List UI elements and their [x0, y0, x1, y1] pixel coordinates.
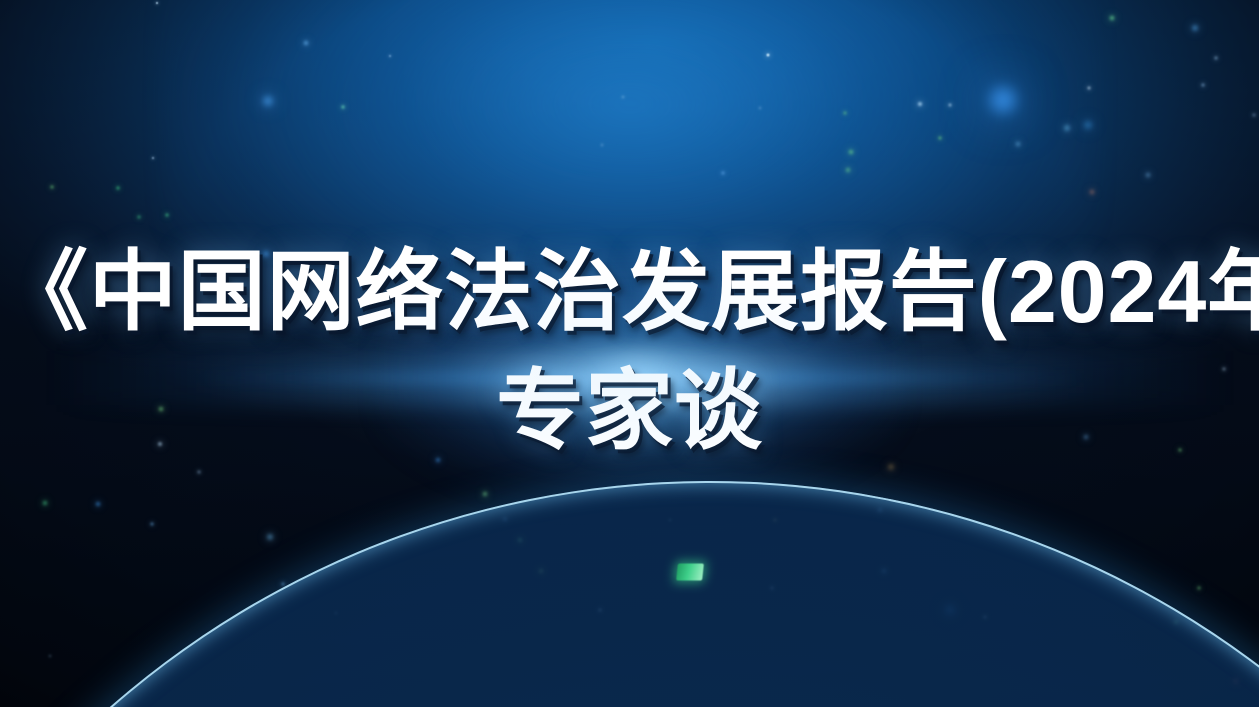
particle-dot [846, 168, 850, 172]
particle-dot [1223, 368, 1226, 371]
particle-dot [1202, 84, 1205, 87]
particle-dot [51, 186, 54, 189]
particle-dot [156, 2, 158, 4]
particle-dot [117, 187, 120, 190]
globe-rim-highlight [0, 447, 1259, 707]
particle-dot [1146, 173, 1150, 177]
particle-dot [1110, 16, 1114, 20]
particle-dot [1084, 435, 1088, 439]
particle-dot [1090, 190, 1094, 194]
particle-dot [849, 150, 853, 154]
particle-dot [158, 442, 162, 446]
particle-dot [601, 144, 603, 146]
particle-dot [939, 137, 942, 140]
particle-dot [759, 107, 761, 109]
particle-dot [264, 252, 269, 257]
particle-dot [342, 106, 345, 109]
particle-dot [1016, 142, 1020, 146]
particle-dot [1242, 261, 1245, 264]
particle-dot [166, 214, 169, 217]
particle-dot [918, 102, 922, 106]
particle-dot [264, 97, 273, 106]
particle-dot [152, 157, 154, 159]
particle-dot [304, 41, 308, 45]
particle-dot [389, 55, 391, 57]
particle-dot [1088, 87, 1091, 90]
particle-dot [622, 96, 624, 98]
digital-earth-graphic [0, 447, 1259, 707]
particle-dot [767, 54, 770, 57]
particle-dot [1085, 122, 1092, 129]
particle-dot [1065, 126, 1070, 131]
particle-dot [990, 87, 1016, 113]
particle-dot [844, 112, 847, 115]
particle-dot [722, 172, 725, 175]
particle-dot [949, 104, 952, 107]
particle-dot [1193, 26, 1198, 31]
particle-dot [159, 407, 163, 411]
poster-canvas: 《中国网络法治发展报告(2024年)》 专家谈 [0, 0, 1259, 707]
globe-sphere [0, 447, 1259, 707]
particle-dot [1215, 57, 1218, 60]
particle-dot [1253, 114, 1256, 117]
globe-green-marker-icon [676, 564, 704, 581]
particle-dot [138, 216, 141, 219]
